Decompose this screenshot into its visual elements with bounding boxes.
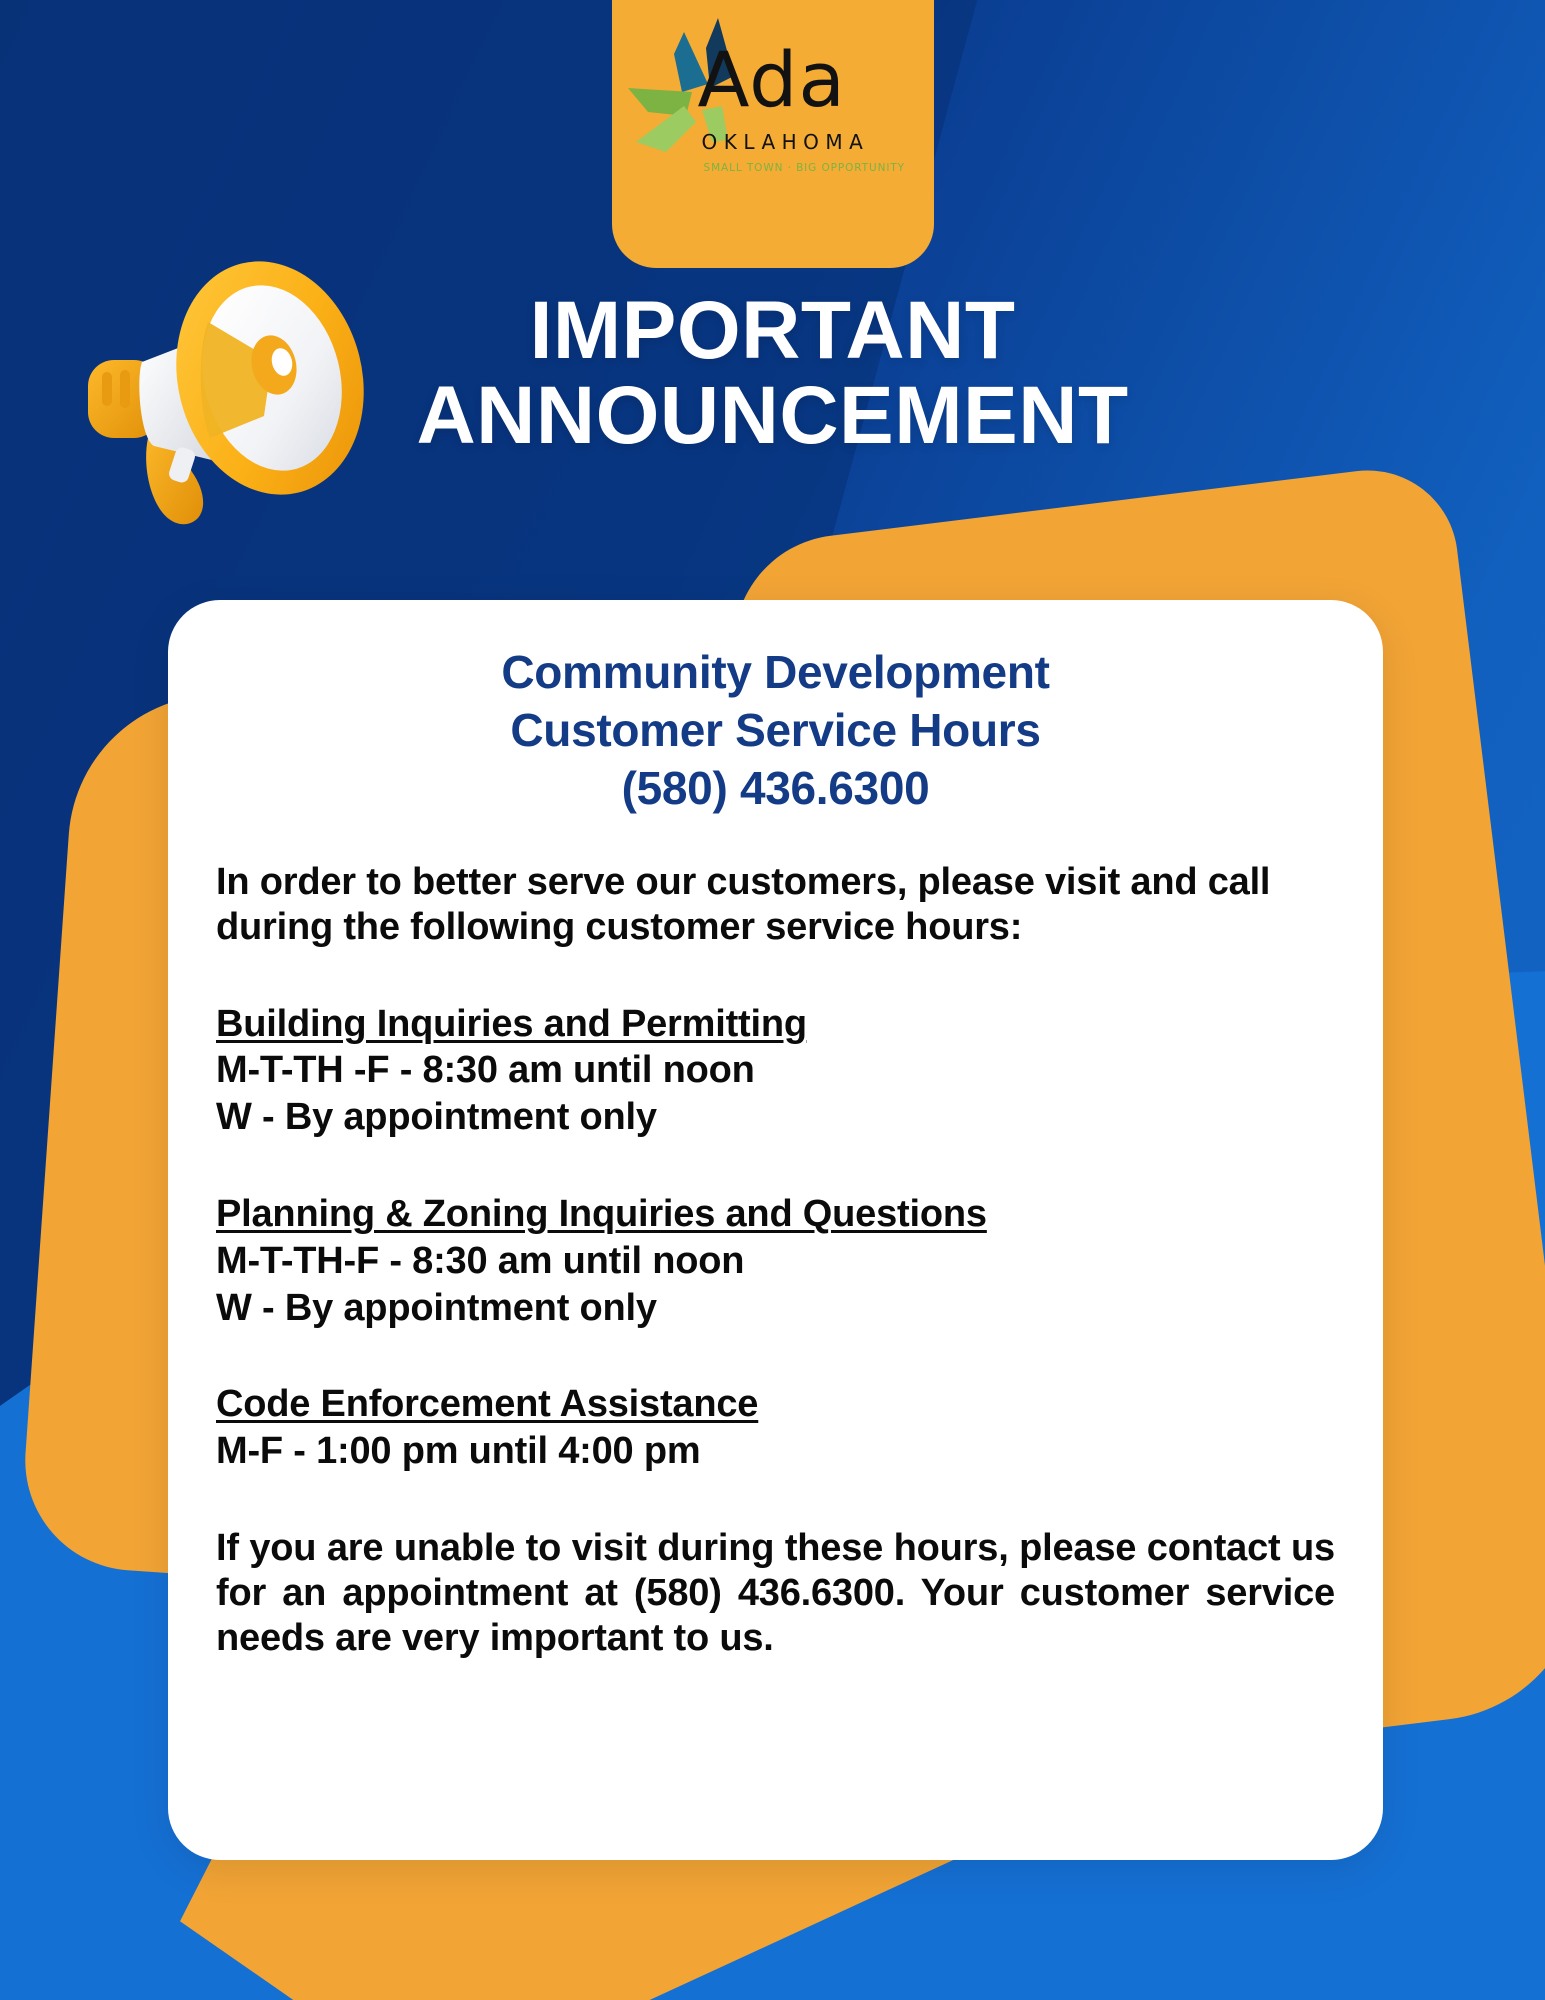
headline-line-1: IMPORTANT [0, 288, 1545, 373]
logo-tagline: SMALL TOWN · BIG OPPORTUNITY [704, 162, 905, 174]
closing-paragraph: If you are unable to visit during these … [216, 1526, 1335, 1660]
section-building-line-1: M-T-TH -F - 8:30 am until noon [216, 1048, 1335, 1093]
section-code-line-1: M-F - 1:00 pm until 4:00 pm [216, 1429, 1335, 1474]
logo-wordmark: Ada [698, 48, 846, 113]
section-planning-line-2: W - By appointment only [216, 1286, 1335, 1331]
headline-line-2: ANNOUNCEMENT [0, 373, 1545, 458]
intro-paragraph: In order to better serve our customers, … [216, 860, 1335, 950]
section-code-heading: Code Enforcement Assistance [216, 1382, 1335, 1427]
section-planning-zoning: Planning & Zoning Inquiries and Question… [216, 1192, 1335, 1330]
section-code-enforcement: Code Enforcement Assistance M-F - 1:00 p… [216, 1382, 1335, 1474]
card-body: In order to better serve our customers, … [216, 860, 1335, 1661]
ada-oklahoma-logo: Ada OKLAHOMA SMALL TOWN · BIG OPPORTUNIT… [612, 12, 934, 202]
logo-state-text: OKLAHOMA [702, 130, 870, 154]
section-building-heading: Building Inquiries and Permitting [216, 1002, 1335, 1047]
page-title: IMPORTANT ANNOUNCEMENT [0, 288, 1545, 459]
section-planning-line-1: M-T-TH-F - 8:30 am until noon [216, 1239, 1335, 1284]
card-title-line-1: Community Development [216, 644, 1335, 702]
announcement-poster: Ada OKLAHOMA SMALL TOWN · BIG OPPORTUNIT… [0, 0, 1545, 2000]
section-building-line-2: W - By appointment only [216, 1095, 1335, 1140]
section-building: Building Inquiries and Permitting M-T-TH… [216, 1002, 1335, 1140]
content-card: Community Development Customer Service H… [168, 600, 1383, 1860]
card-title-line-2: Customer Service Hours [216, 702, 1335, 760]
logo-banner: Ada OKLAHOMA SMALL TOWN · BIG OPPORTUNIT… [612, 0, 934, 268]
section-planning-heading: Planning & Zoning Inquiries and Question… [216, 1192, 1335, 1237]
card-phone-number[interactable]: (580) 436.6300 [216, 760, 1335, 818]
card-title-block: Community Development Customer Service H… [216, 644, 1335, 818]
